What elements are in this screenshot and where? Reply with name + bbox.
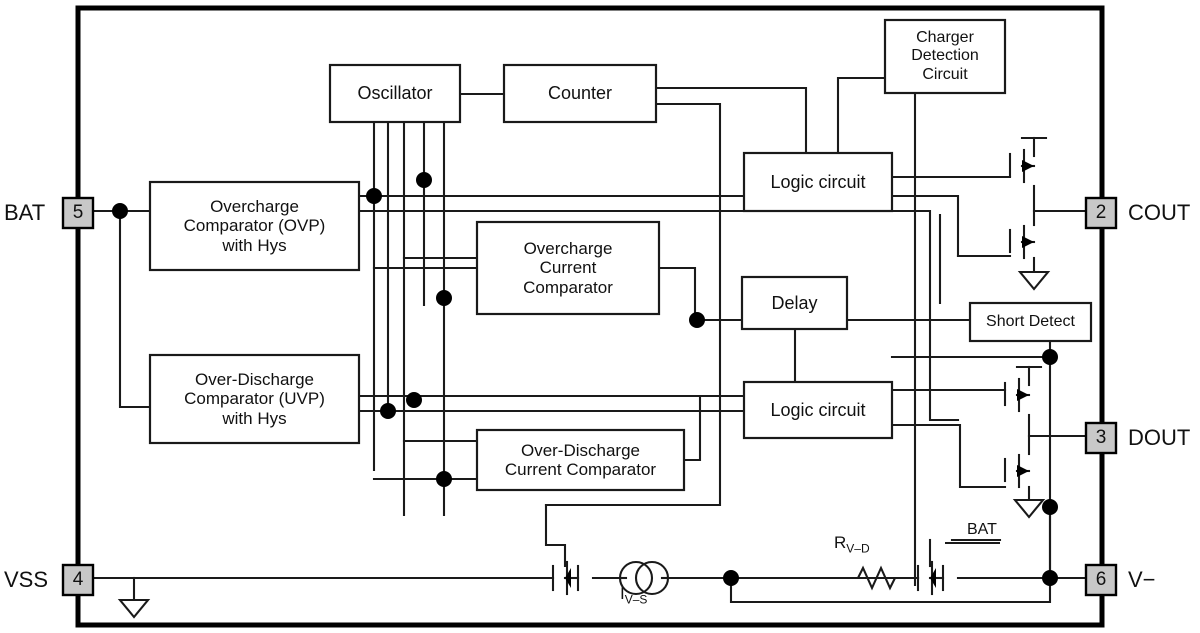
resistor-label-main: R — [834, 533, 846, 552]
pin-number-cout: 2 — [1086, 198, 1116, 228]
pin-label-dout: DOUT — [1128, 423, 1190, 453]
resistor-label-sub: V–D — [846, 541, 869, 555]
pin-label-cout: COUT — [1128, 198, 1190, 228]
pin-label-bat: BAT — [4, 198, 45, 228]
pin-number-bat: 5 — [63, 198, 93, 228]
pin-label-vminus: V− — [1128, 565, 1156, 595]
circuit-schematic-svg — [0, 0, 1200, 633]
bat-node-label: BAT — [967, 521, 997, 539]
wire-layer — [88, 78, 1102, 602]
pin-number-vminus: 6 — [1086, 565, 1116, 595]
current-source-label: IV–S — [620, 584, 647, 606]
pin-label-vss: VSS — [4, 565, 48, 595]
block-diagram-canvas: Oscillator Counter Charger Detection Cir… — [0, 0, 1200, 633]
pin-number-vss: 4 — [63, 565, 93, 595]
resistor-label: RV–D — [834, 533, 870, 555]
current-source-label-sub: V–S — [625, 592, 648, 606]
bat-node-label-main: BAT — [967, 521, 997, 538]
pin-number-dout: 3 — [1086, 423, 1116, 453]
